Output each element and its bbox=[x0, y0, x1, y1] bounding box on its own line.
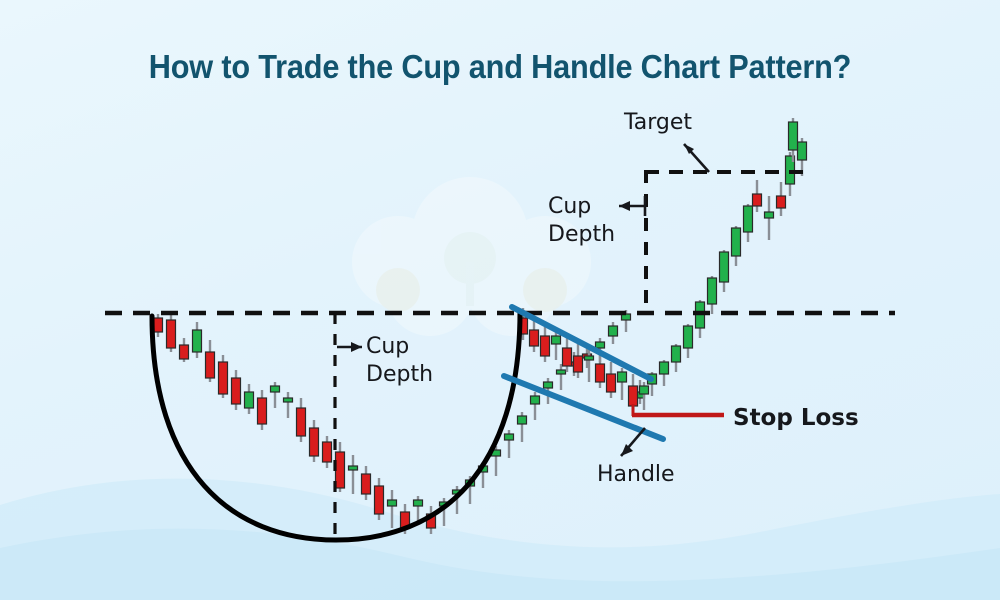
candlestick bbox=[696, 300, 705, 338]
candlestick bbox=[219, 355, 228, 398]
candlestick bbox=[180, 338, 189, 362]
annotation-cup-depth-upper-line1: Cup bbox=[548, 193, 615, 221]
candlestick bbox=[596, 354, 605, 388]
candlestick bbox=[349, 455, 358, 494]
candlestick bbox=[232, 370, 241, 410]
candlestick bbox=[284, 392, 293, 418]
cup-depth-upper-arrow bbox=[619, 196, 646, 216]
candlestick bbox=[336, 442, 345, 492]
cup-depth-lower-arrow bbox=[337, 342, 362, 352]
annotation-cup-depth-upper: Cup Depth bbox=[548, 193, 615, 249]
candlestick bbox=[672, 344, 681, 372]
annotation-cup-depth-upper-line2: Depth bbox=[548, 221, 615, 249]
annotation-cup-depth-lower-line1: Cup bbox=[366, 333, 433, 361]
annotation-handle: Handle bbox=[597, 462, 675, 489]
candlestick bbox=[660, 360, 669, 386]
handle-callout-arrow bbox=[621, 428, 645, 456]
candlestick bbox=[541, 326, 550, 362]
annotation-cup-depth-lower-line2: Depth bbox=[366, 361, 433, 389]
candlestick bbox=[518, 412, 527, 442]
candlestick bbox=[753, 180, 762, 212]
candlestick bbox=[684, 324, 693, 358]
candlestick bbox=[206, 340, 215, 382]
candlestick bbox=[732, 226, 741, 266]
candlestick bbox=[607, 362, 616, 398]
annotation-target: Target bbox=[624, 110, 692, 137]
candlestick bbox=[563, 338, 572, 372]
candlestick bbox=[414, 496, 423, 522]
candlestick bbox=[258, 390, 267, 430]
candlestick bbox=[362, 466, 371, 500]
candlestick bbox=[505, 430, 514, 458]
candlestick bbox=[609, 322, 618, 344]
candlestick bbox=[720, 250, 729, 292]
candlestick bbox=[708, 276, 717, 314]
target-callout-arrow bbox=[684, 144, 709, 172]
annotation-cup-depth-lower: Cup Depth bbox=[366, 333, 433, 389]
candlestick bbox=[297, 398, 306, 442]
candlestick bbox=[375, 478, 384, 520]
candlestick bbox=[167, 315, 176, 352]
candlestick bbox=[744, 204, 753, 242]
candlestick bbox=[618, 368, 627, 400]
candlestick bbox=[154, 314, 163, 337]
annotation-stop-loss: Stop Loss bbox=[733, 404, 859, 432]
infographic-canvas: How to Trade the Cup and Handle Chart Pa… bbox=[0, 0, 1000, 600]
candlestick bbox=[245, 384, 254, 414]
candlestick bbox=[557, 364, 566, 390]
cup-and-handle-chart bbox=[0, 0, 1000, 600]
candlestick bbox=[310, 420, 319, 462]
candlestick bbox=[271, 382, 280, 408]
background-wave bbox=[0, 479, 1000, 600]
candlestick bbox=[765, 196, 774, 240]
candlestick bbox=[531, 392, 540, 420]
candlestick bbox=[193, 322, 202, 358]
candlestick bbox=[777, 182, 786, 216]
candlestick bbox=[323, 436, 332, 468]
